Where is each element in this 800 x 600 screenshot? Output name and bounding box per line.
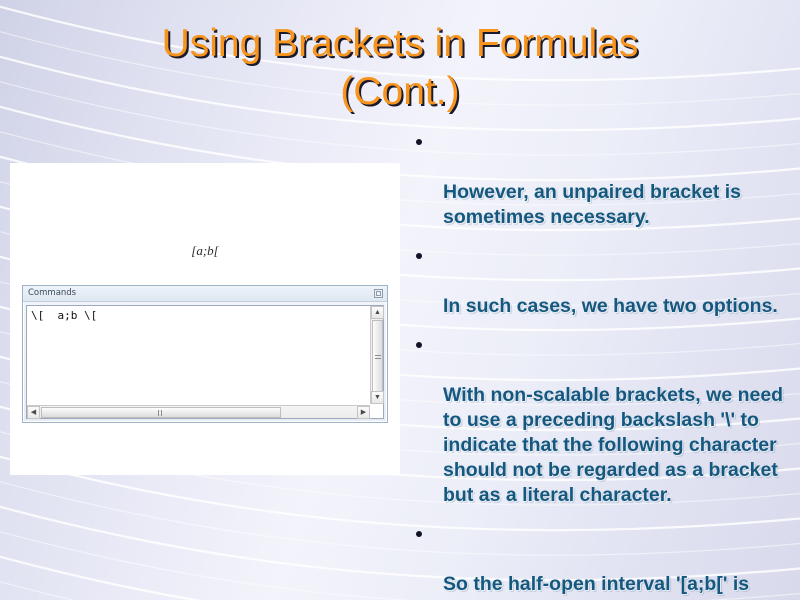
list-item-text: With non-scalable brackets, we need to u… xyxy=(443,384,783,506)
list-item: With non-scalable brackets, we need to u… xyxy=(409,333,795,508)
list-item: However, an unpaired bracket is sometime… xyxy=(409,130,795,230)
scroll-right-arrow-icon[interactable]: ▶ xyxy=(357,406,370,419)
bullet-dot-icon xyxy=(416,139,422,145)
list-item: In such cases, we have two options. xyxy=(409,244,795,319)
commands-panel: Commands \[ a;b \[ ▲ ▼ ◀ ▶ xyxy=(22,285,388,423)
formula-preview: [a;b[ xyxy=(10,243,400,259)
presentation-slide: Using Brackets in Formulas (Cont.) Howev… xyxy=(0,0,800,600)
list-item-text: However, an unpaired bracket is sometime… xyxy=(443,181,741,228)
scroll-left-arrow-icon[interactable]: ◀ xyxy=(27,406,40,419)
bullet-list: However, an unpaired bracket is sometime… xyxy=(409,130,795,600)
horizontal-scrollbar-thumb[interactable] xyxy=(41,407,281,418)
scroll-up-arrow-icon[interactable]: ▲ xyxy=(371,306,384,319)
scrollbar-grip-icon xyxy=(158,410,164,416)
bullet-dot-icon xyxy=(416,531,422,537)
page-title: Using Brackets in Formulas (Cont.) xyxy=(40,20,760,116)
horizontal-scrollbar[interactable]: ◀ ▶ xyxy=(27,405,370,418)
scrollbar-grip-icon xyxy=(375,355,381,361)
commands-text-area[interactable]: \[ a;b \[ ▲ ▼ ◀ ▶ xyxy=(26,305,384,419)
commands-input-value: \[ a;b \[ xyxy=(31,309,97,322)
bullet-dot-icon xyxy=(416,342,422,348)
scroll-down-arrow-icon[interactable]: ▼ xyxy=(371,391,384,404)
list-item: So the half-open interval '[a;b[' is rep… xyxy=(409,522,795,600)
embedded-screenshot: [a;b[ Commands \[ a;b \[ ▲ ▼ ◀ xyxy=(10,163,400,475)
vertical-scrollbar[interactable]: ▲ ▼ xyxy=(370,306,383,404)
dock-window-icon[interactable] xyxy=(374,289,383,298)
commands-panel-title: Commands xyxy=(28,288,76,298)
list-item-text: So the half-open interval '[a;b[' is rep… xyxy=(443,573,749,600)
commands-titlebar: Commands xyxy=(23,286,387,302)
list-item-text: In such cases, we have two options. xyxy=(443,295,778,317)
bullet-dot-icon xyxy=(416,253,422,259)
vertical-scrollbar-thumb[interactable] xyxy=(372,320,383,395)
